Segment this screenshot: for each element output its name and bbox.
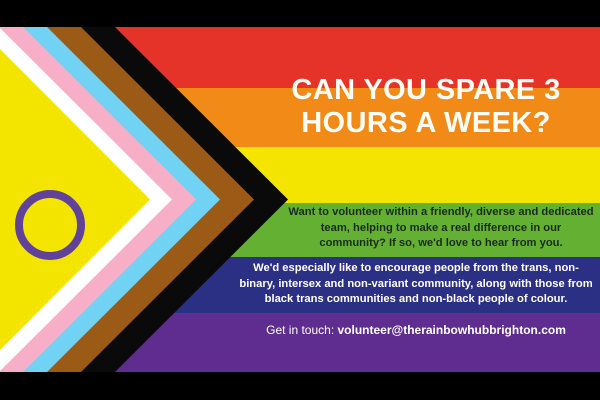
headline-line-2: HOURS A WEEK? — [258, 107, 594, 140]
paragraph-encouragement: We'd especially like to encourage people… — [236, 261, 596, 308]
headline-line-1: CAN YOU SPARE 3 — [258, 74, 594, 107]
contact-line: Get in touch: volunteer@therainbowhubbri… — [236, 323, 596, 339]
contact-email-link[interactable]: volunteer@therainbowhubbrighton.com — [338, 323, 566, 337]
contact-label: Get in touch: — [266, 323, 337, 337]
paragraph-volunteer-invite: Want to volunteer within a friendly, div… — [286, 205, 596, 252]
intersex-ring-icon — [15, 190, 85, 260]
volunteer-recruitment-poster: CAN YOU SPARE 3 HOURS A WEEK? Want to vo… — [0, 0, 600, 400]
page-title: CAN YOU SPARE 3 HOURS A WEEK? — [258, 74, 594, 140]
progress-pride-chevron — [0, 27, 300, 372]
